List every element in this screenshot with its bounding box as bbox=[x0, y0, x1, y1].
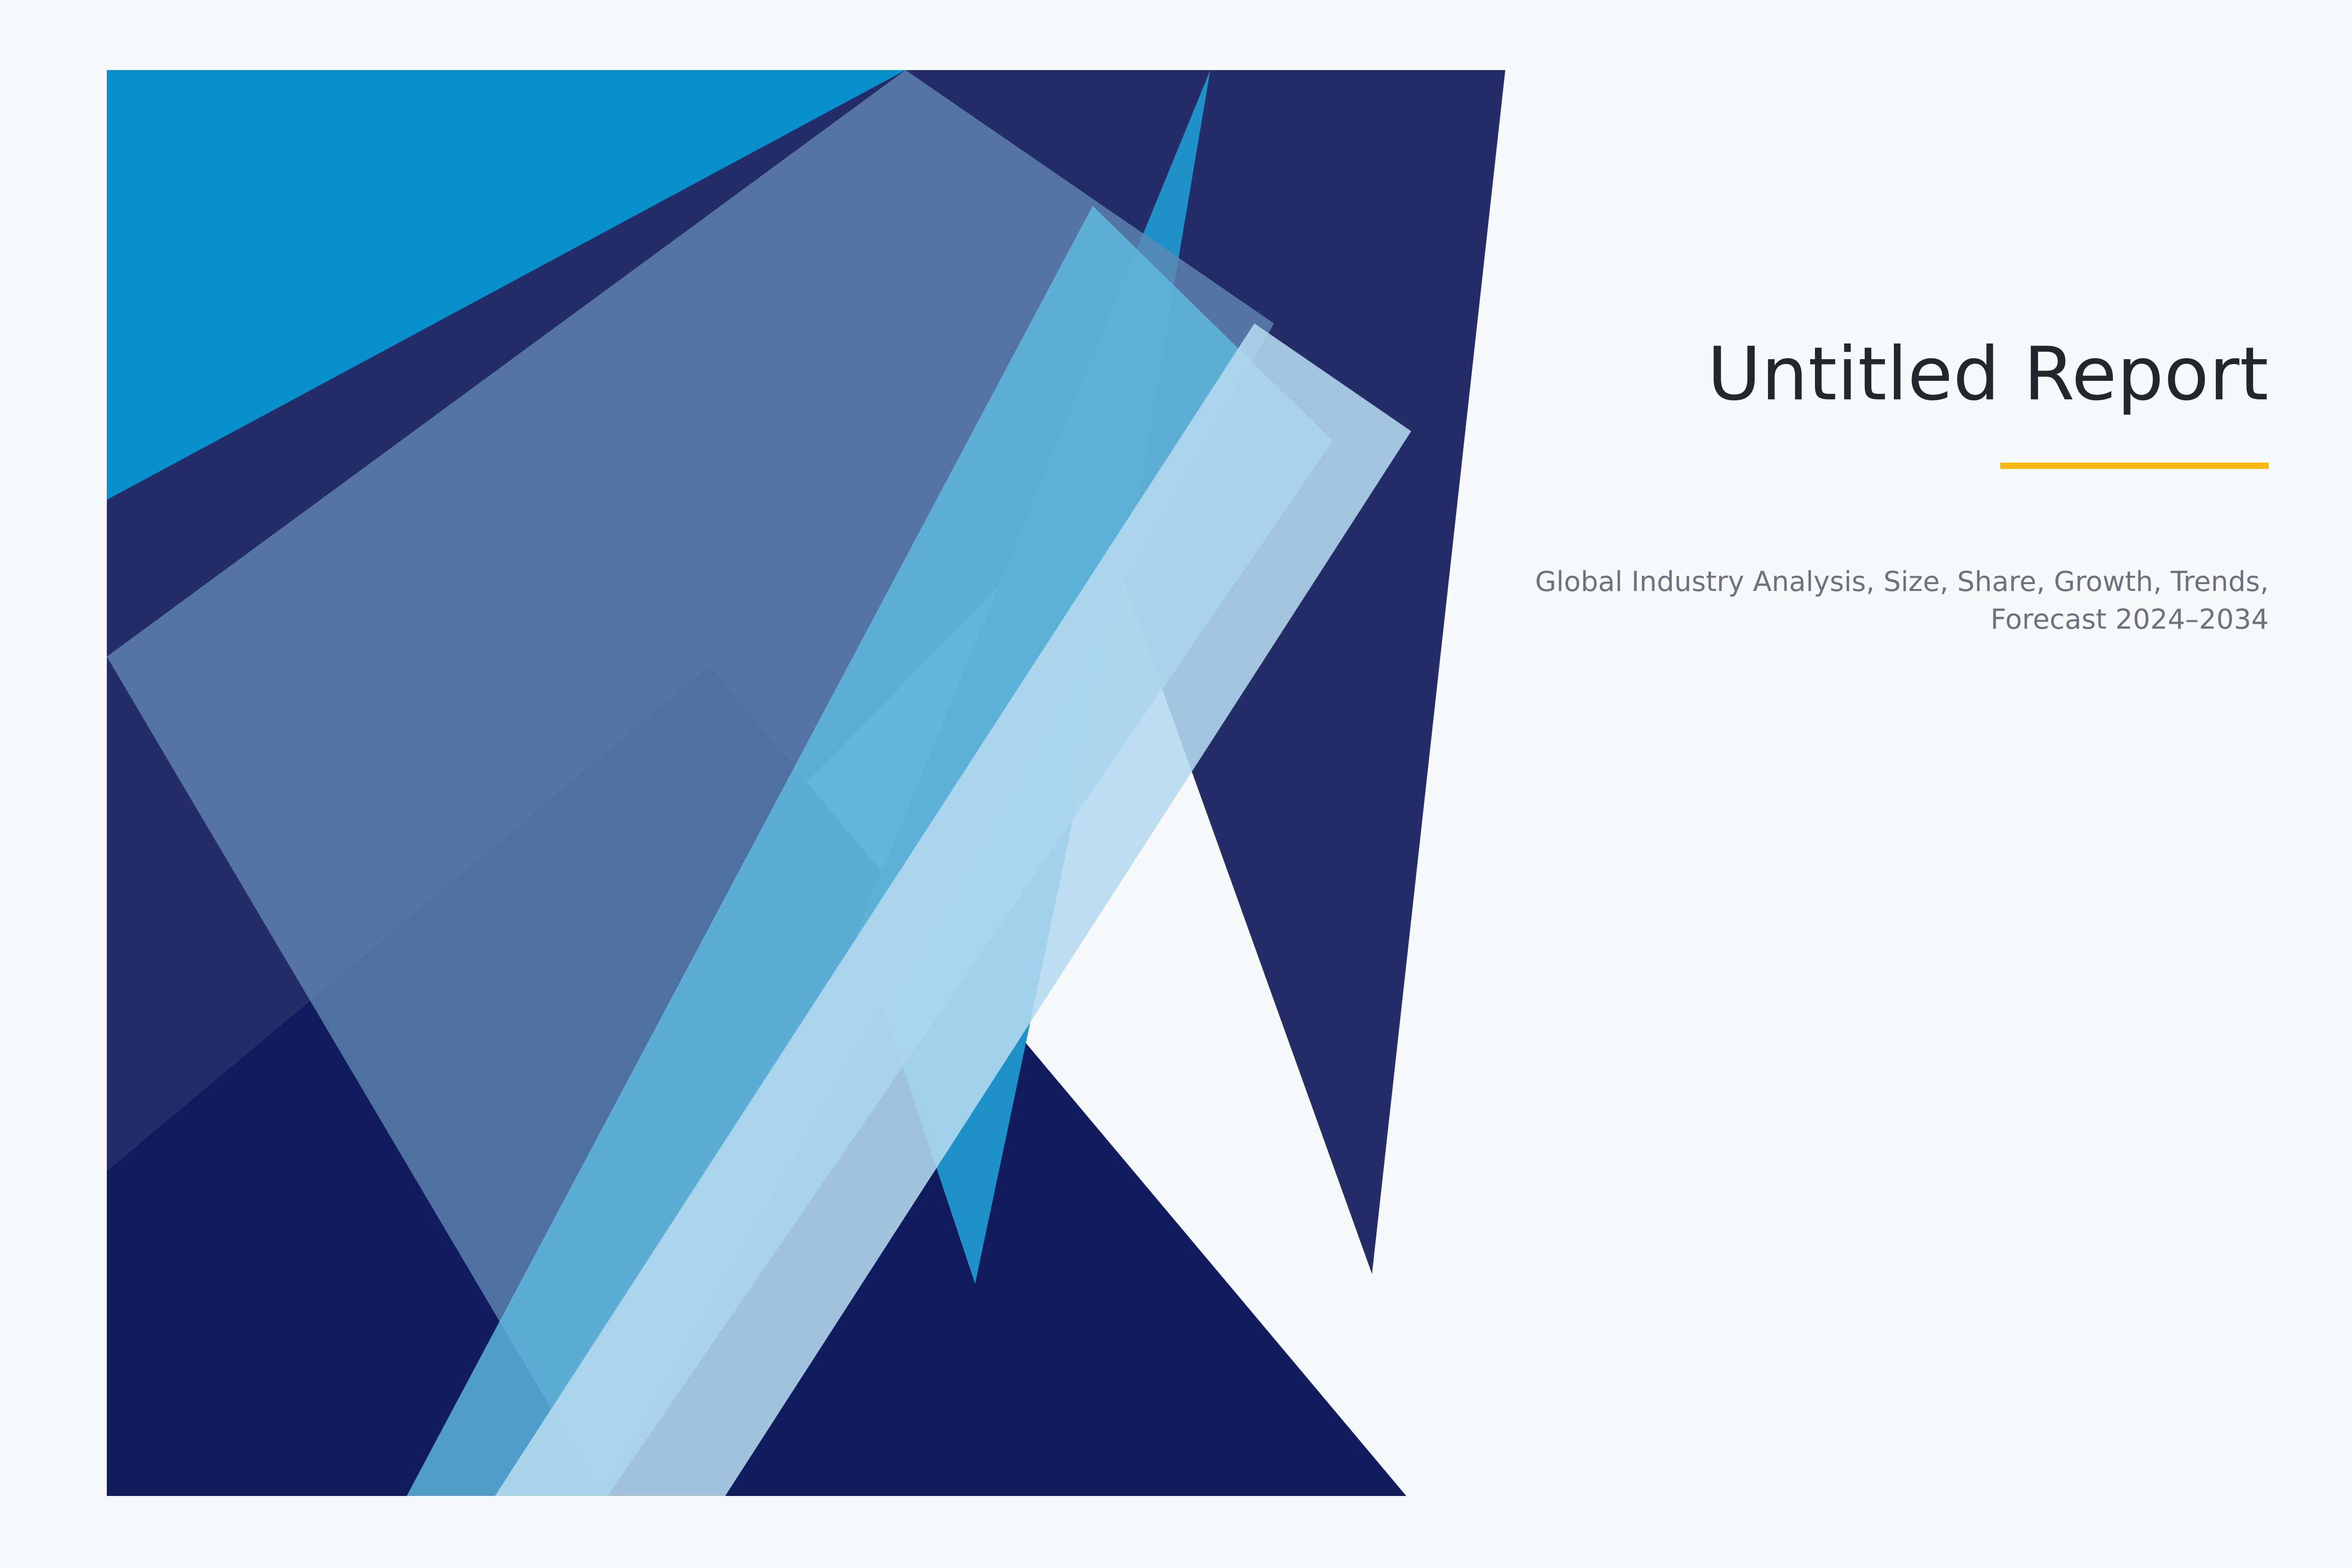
abstract-geometric-cover-graphic bbox=[0, 0, 2352, 1568]
title-accent-rule bbox=[2000, 463, 2269, 469]
artwork-shape-group bbox=[107, 70, 1505, 1496]
cover-text-block: Untitled Report Global Industry Analysis… bbox=[1519, 333, 2269, 639]
report-cover-page: Untitled Report Global Industry Analysis… bbox=[0, 0, 2352, 1568]
page-title: Untitled Report bbox=[1519, 333, 2269, 416]
cover-subtitle: Global Industry Analysis, Size, Share, G… bbox=[1519, 563, 2269, 639]
